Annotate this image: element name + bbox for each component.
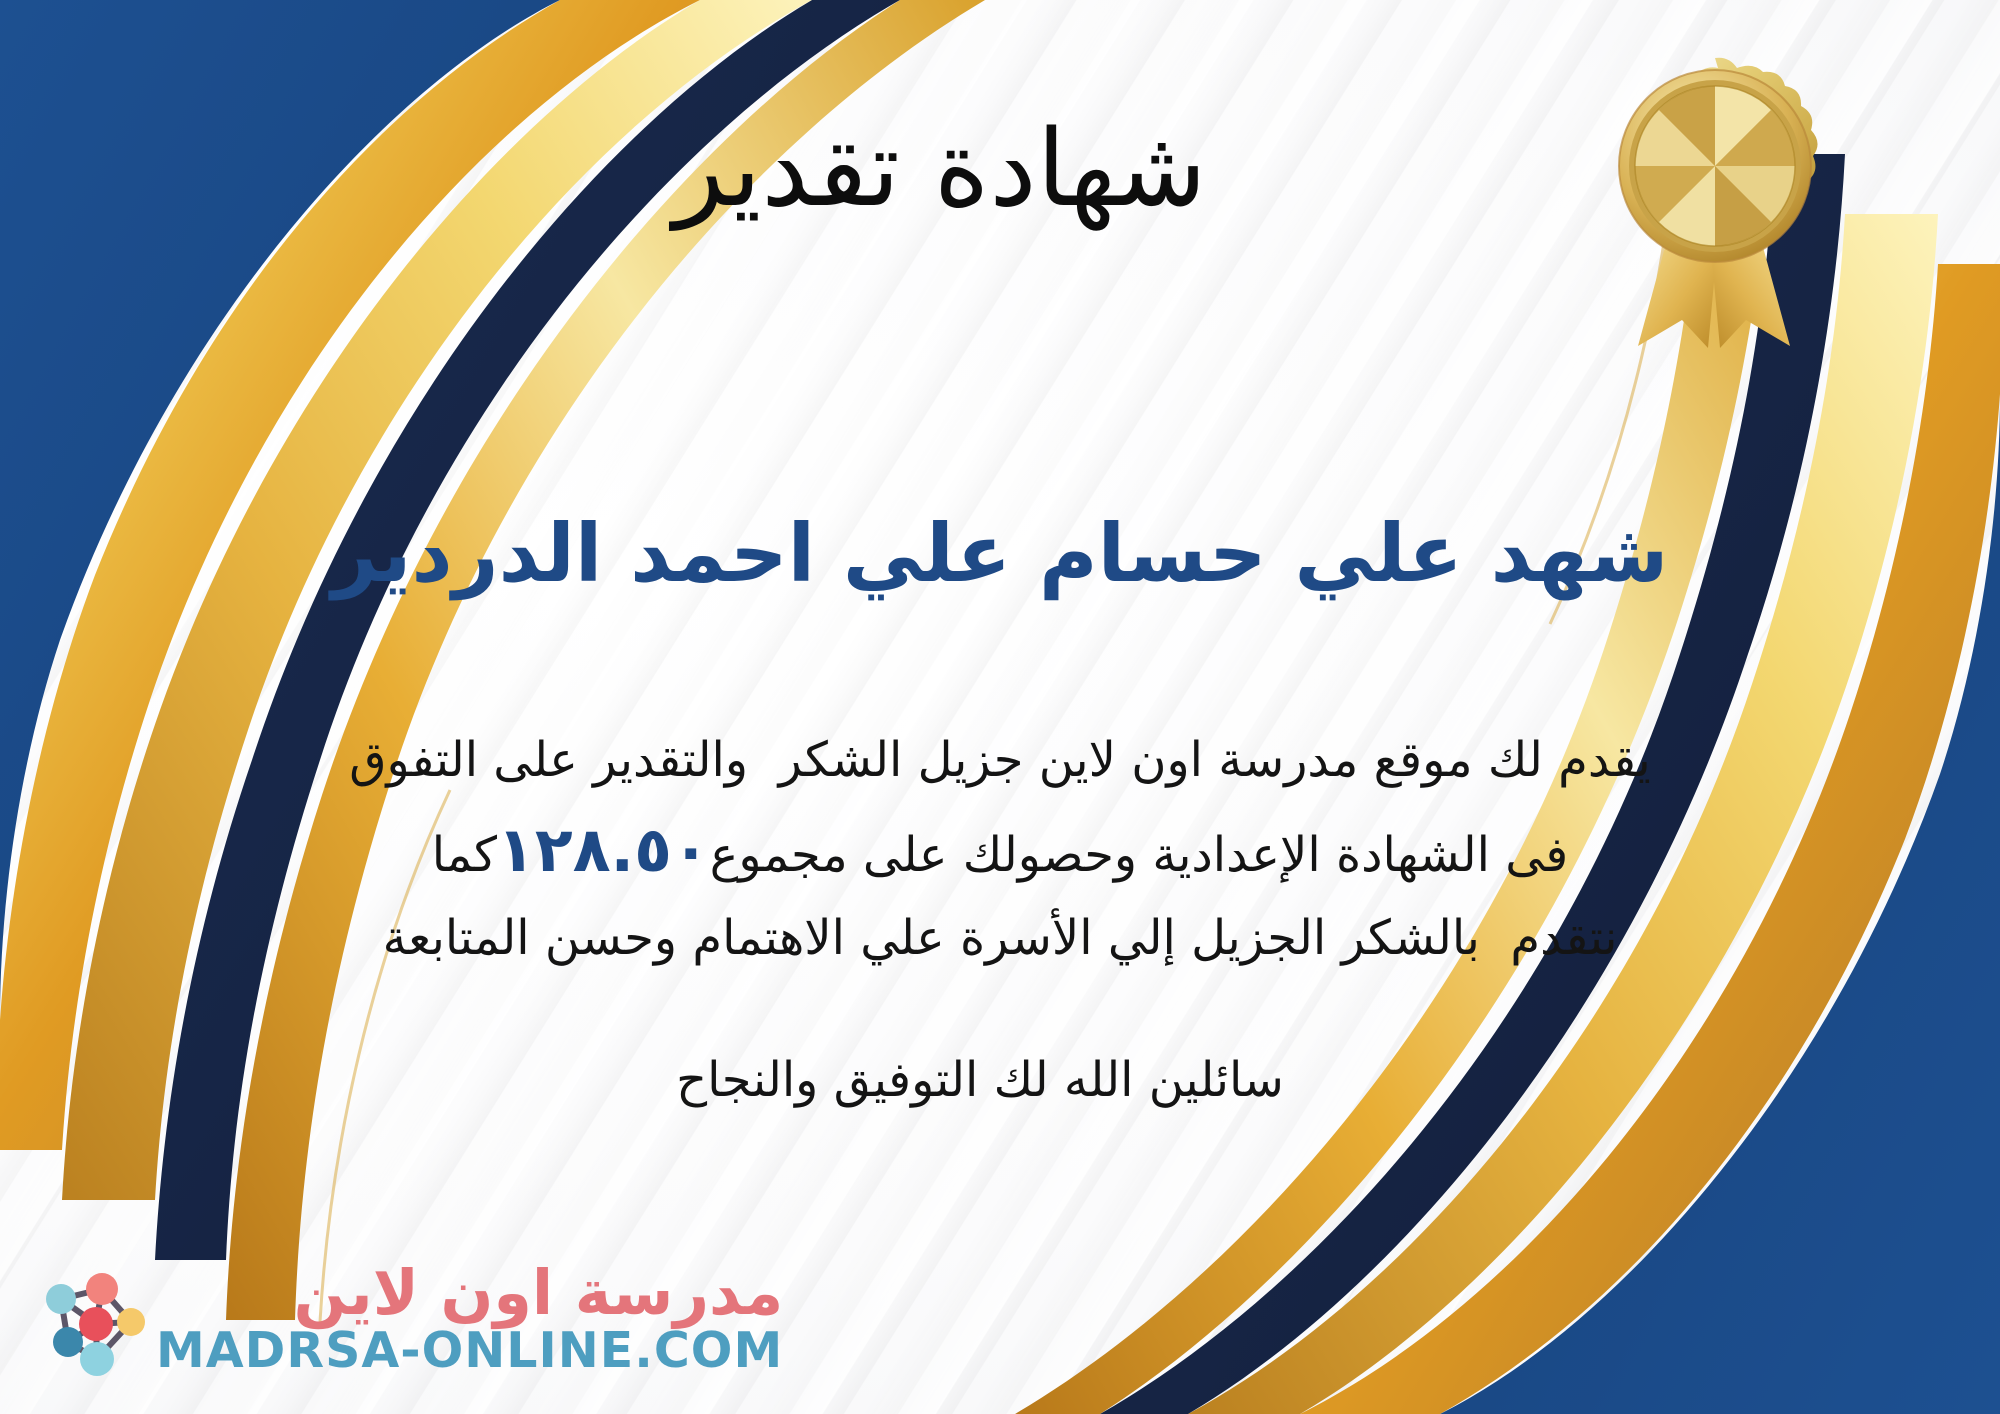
body-line-1: يقدم لك موقع مدرسة اون لاين جزيل الشكر و… (60, 722, 1940, 800)
site-logo[interactable]: مدرسة اون لاين MADRSA-ONLINE.COM (30, 1258, 783, 1378)
medal-face (1635, 86, 1795, 246)
body-line-2-after: كما (432, 827, 497, 883)
network-nodes-icon (30, 1258, 150, 1378)
recipient-name: شهد علي حسام علي احمد الدردير (0, 510, 2000, 598)
logo-domain-text: MADRSA-ONLINE.COM (156, 1325, 783, 1376)
body-line-3: نتقدم بالشكر الجزيل إلي الأسرة علي الاهت… (60, 900, 1940, 978)
closing-line: سائلين الله لك التوفيق والنجاح (0, 1052, 2000, 1108)
body-line-2: فى الشهادة الإعدادية وحصولك على مجموع١٢٨… (60, 800, 1940, 900)
grade-value: ١٢٨.٥٠ (497, 813, 710, 886)
body-paragraph: يقدم لك موقع مدرسة اون لاين جزيل الشكر و… (60, 722, 1940, 978)
gold-medal-seal (1590, 48, 1840, 348)
logo-arabic-text: مدرسة اون لاين (294, 1260, 784, 1325)
body-line-2-before: فى الشهادة الإعدادية وحصولك على مجموع (710, 827, 1568, 883)
certificate-canvas: شهادة تقدير شهد علي حسام علي احمد الدردي… (0, 0, 2000, 1414)
